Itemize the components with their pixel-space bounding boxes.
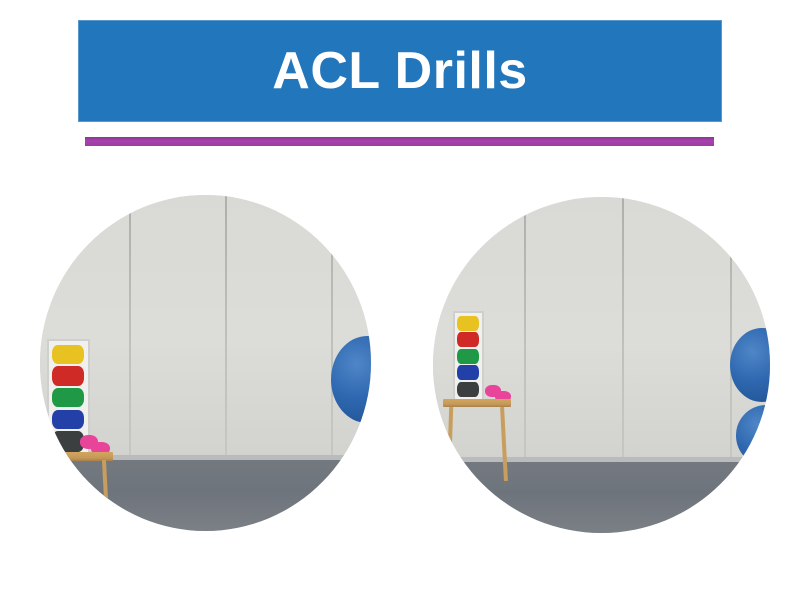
band-blue [457,365,479,380]
slide-canvas: ACL Drills [0,0,800,600]
wall-seam [730,197,732,462]
gym-wall [433,197,770,462]
band-red [457,332,479,347]
band-yellow [457,316,479,331]
wall-seam [622,197,624,462]
single-leg-hop-position-photo [433,197,770,533]
wall-seam [331,195,333,460]
wall-seam [129,195,131,460]
wall-seam [225,195,227,460]
page-title: ACL Drills [272,45,527,97]
gym-floor [433,462,770,533]
gym-scene-right [433,197,770,533]
band-blue [52,410,85,429]
band-black [457,382,479,398]
band-green [457,349,479,364]
wall-seam [524,197,526,462]
band-green [52,388,85,407]
band-red [52,366,85,385]
gym-scene-left [40,195,371,531]
accent-bar [85,137,714,146]
gym-floor [40,460,371,531]
gym-wall [40,195,371,460]
resistance-band-rack [453,311,483,402]
title-banner: ACL Drills [78,20,722,122]
band-yellow [52,345,85,364]
standing-start-position-photo [40,195,371,531]
